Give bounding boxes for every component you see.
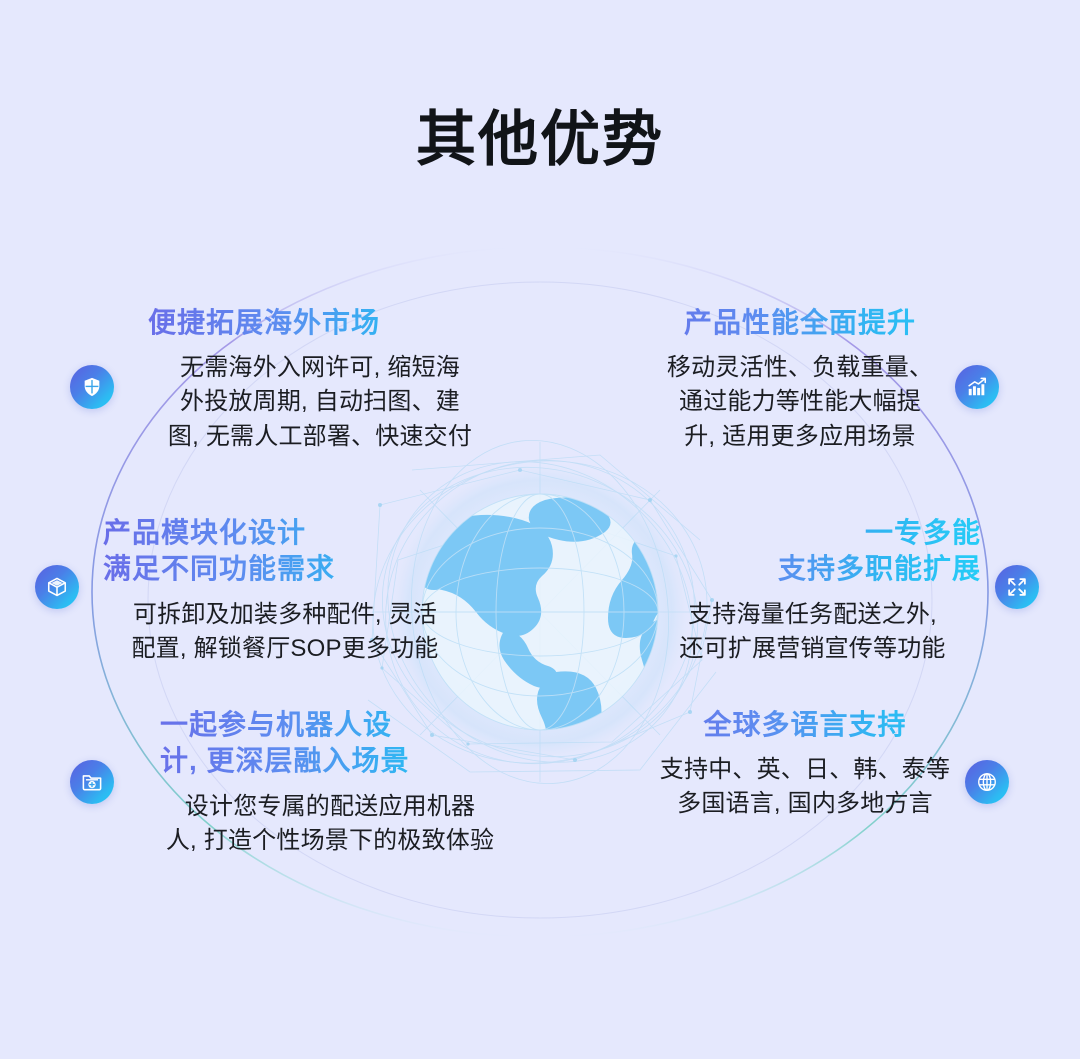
growth-chart-icon <box>966 376 988 398</box>
add-folder-icon-node[interactable] <box>70 760 114 804</box>
expand-arrows-icon-node[interactable] <box>995 565 1039 609</box>
growth-chart-icon-node[interactable] <box>955 365 999 409</box>
feature-block-performance: 产品性能全面提升 移动灵活性、负载重量、 通过能力等性能大幅提 升, 适用更多应… <box>620 305 980 454</box>
page-title: 其他优势 <box>0 110 1080 170</box>
feature-body-codesign: 设计您专属的配送应用机器 人, 打造个性场景下的极致体验 <box>140 790 520 858</box>
cube-icon-node[interactable] <box>35 565 79 609</box>
feature-heading-multirole: 一专多能 支持多职能扩展 <box>640 515 985 588</box>
feature-heading-overseas: 便捷拓展海外市场 <box>140 305 500 341</box>
globe-icon-node[interactable] <box>965 760 1009 804</box>
feature-block-multirole: 一专多能 支持多职能扩展 支持海量任务配送之外, 还可扩展营销宣传等功能 <box>640 515 985 666</box>
feature-block-language: 全球多语言支持 支持中、英、日、韩、泰等 多国语言, 国内多地方言 <box>630 707 980 822</box>
feature-block-modular: 产品模块化设计 满足不同功能需求 可拆卸及加装多种配件, 灵活 配置, 解锁餐厅… <box>95 515 475 666</box>
feature-body-language: 支持中、英、日、韩、泰等 多国语言, 国内多地方言 <box>630 753 980 821</box>
feature-body-performance: 移动灵活性、负载重量、 通过能力等性能大幅提 升, 适用更多应用场景 <box>620 351 980 453</box>
add-folder-icon <box>81 771 103 793</box>
feature-block-overseas: 便捷拓展海外市场 无需海外入网许可, 缩短海 外投放周期, 自动扫图、建 图, … <box>140 305 500 454</box>
shield-icon-node[interactable] <box>70 365 114 409</box>
feature-body-multirole: 支持海量任务配送之外, 还可扩展营销宣传等功能 <box>640 598 985 666</box>
infographic-canvas: 其他优势 便捷拓展海外市场 无需海外入网许可, 缩短海 外投放周期, 自动扫图、… <box>0 0 1080 1059</box>
globe-icon <box>976 771 998 793</box>
cube-icon <box>46 576 68 598</box>
feature-heading-codesign: 一起参与机器人设 计, 更深层融入场景 <box>140 707 520 780</box>
feature-block-codesign: 一起参与机器人设 计, 更深层融入场景 设计您专属的配送应用机器 人, 打造个性… <box>140 707 520 858</box>
feature-heading-modular: 产品模块化设计 满足不同功能需求 <box>95 515 475 588</box>
shield-icon <box>81 376 103 398</box>
feature-body-overseas: 无需海外入网许可, 缩短海 外投放周期, 自动扫图、建 图, 无需人工部署、快速… <box>140 351 500 453</box>
expand-arrows-icon <box>1006 576 1028 598</box>
feature-heading-performance: 产品性能全面提升 <box>620 305 980 341</box>
feature-heading-language: 全球多语言支持 <box>630 707 980 743</box>
feature-body-modular: 可拆卸及加装多种配件, 灵活 配置, 解锁餐厅SOP更多功能 <box>95 598 475 666</box>
